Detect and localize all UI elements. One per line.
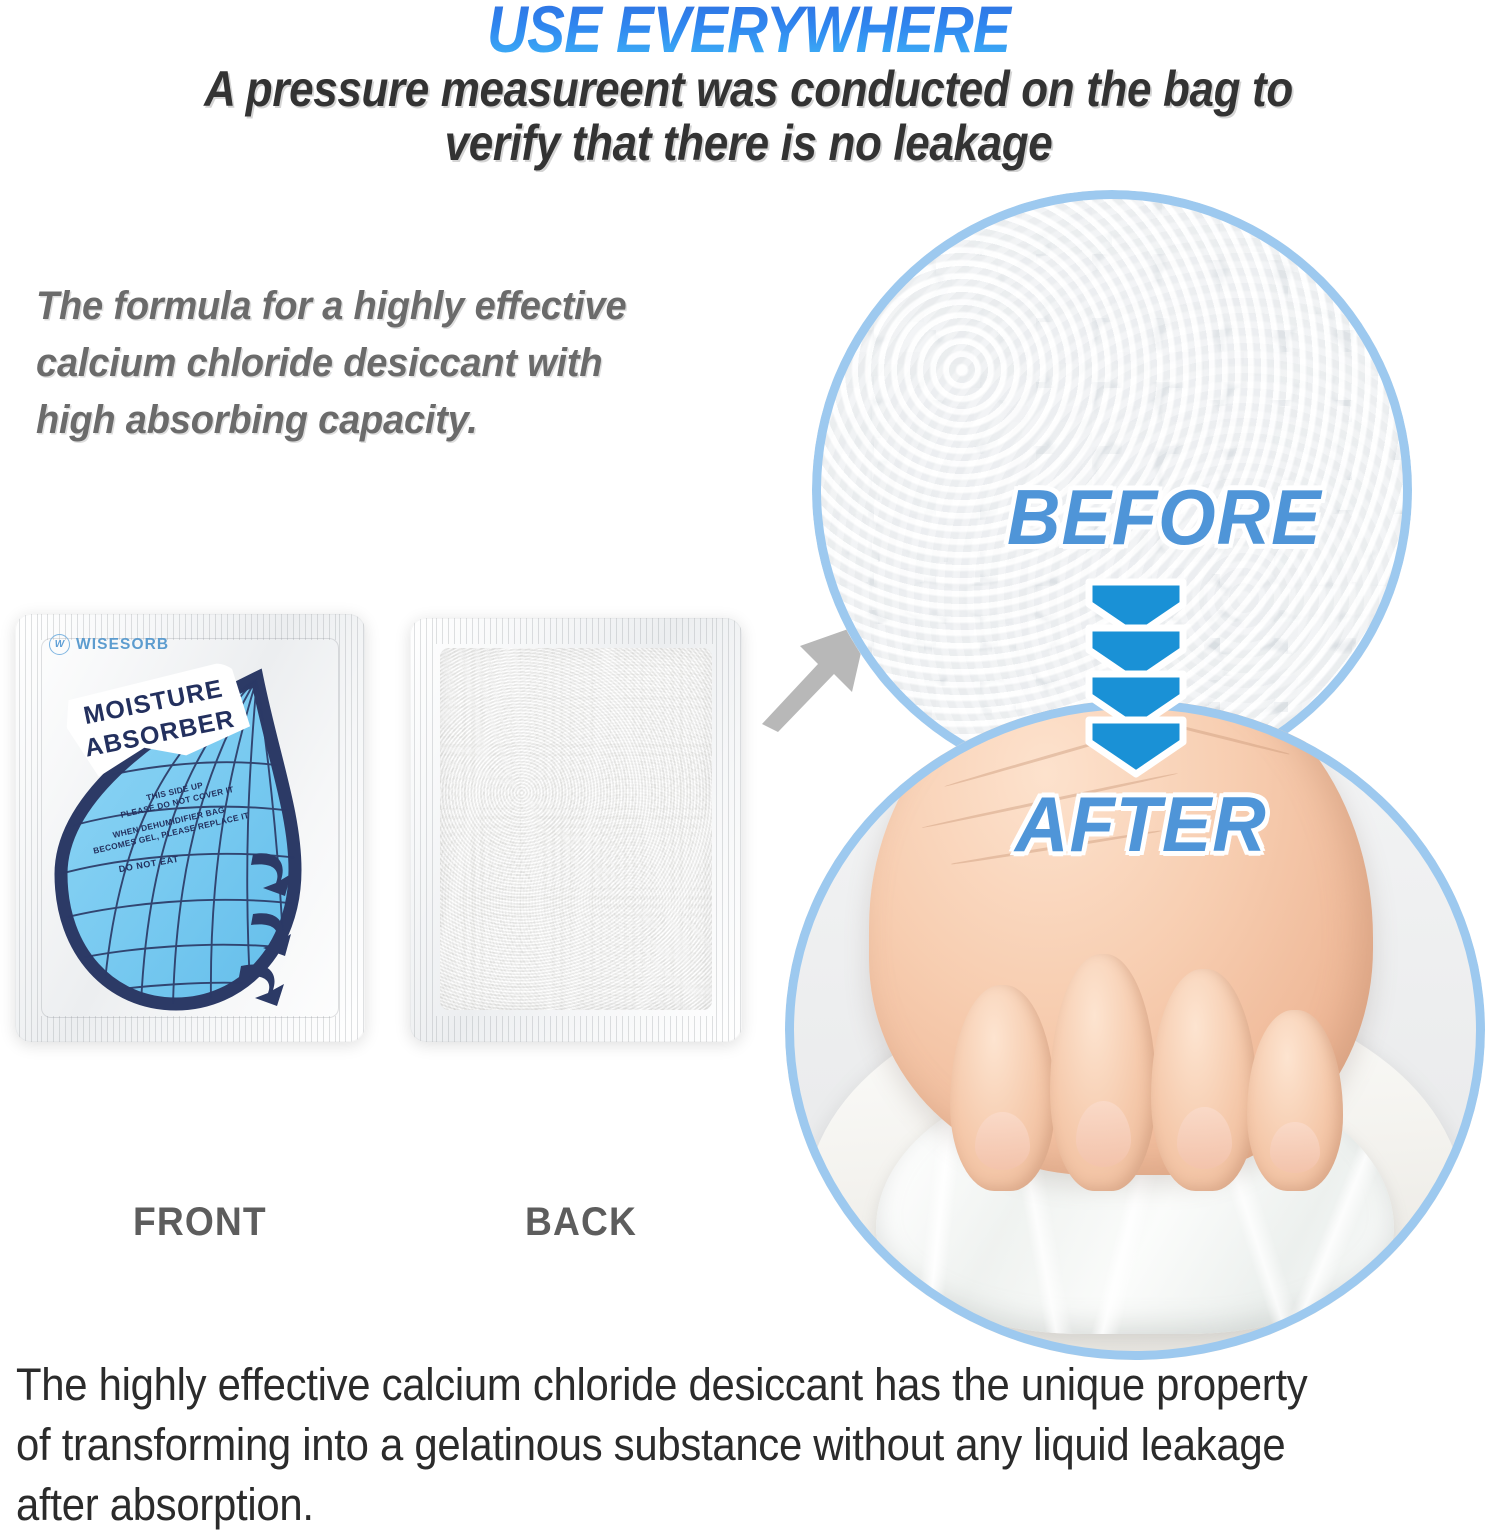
- after-label: AFTER: [1015, 785, 1267, 863]
- lead-line-3: high absorbing capacity.: [36, 392, 787, 449]
- footer-line-3: after absorption.: [16, 1475, 1383, 1535]
- page-subtitle-line-1: A pressure measureent was conducted on t…: [90, 62, 1407, 116]
- downward-chevron-arrows-icon: [1073, 578, 1199, 778]
- finger: [1050, 954, 1156, 1191]
- wisesorb-logo-icon: W: [49, 634, 70, 655]
- product-packet-back: [410, 618, 742, 1042]
- lead-line-1: The formula for a highly effective: [36, 278, 787, 335]
- fingernail: [1270, 1122, 1320, 1172]
- page-title: USE EVERYWHERE: [105, 0, 1392, 62]
- desiccant-granules-window: [440, 648, 712, 1010]
- footer-line-2: of transforming into a gelatinous substa…: [16, 1415, 1383, 1475]
- finger: [1247, 1010, 1343, 1190]
- caption-back: BACK: [525, 1200, 637, 1245]
- product-packet-front: W WISESORB: [15, 614, 365, 1042]
- caption-front: FRONT: [133, 1200, 267, 1245]
- finger: [950, 985, 1056, 1191]
- lead-line-2: calcium chloride desiccant with: [36, 335, 787, 392]
- brand-lockup: W WISESORB: [49, 634, 169, 655]
- infographic-canvas: USE EVERYWHERE A pressure measureent was…: [0, 0, 1497, 1500]
- before-label: BEFORE: [1007, 478, 1321, 556]
- lead-paragraph: The formula for a highly effective calci…: [36, 278, 787, 448]
- footer-paragraph: The highly effective calcium chloride de…: [16, 1355, 1383, 1535]
- plastic-film-highlights: [440, 648, 712, 1010]
- page-subtitle-line-2: verify that there is no leakage: [90, 116, 1407, 170]
- brand-name: WISESORB: [76, 636, 169, 654]
- fingernail: [1177, 1107, 1232, 1169]
- page-subtitle: A pressure measureent was conducted on t…: [90, 62, 1407, 170]
- fingernail: [1076, 1101, 1131, 1167]
- footer-line-1: The highly effective calcium chloride de…: [16, 1355, 1383, 1415]
- finger: [1151, 969, 1257, 1190]
- fingernail: [975, 1112, 1030, 1170]
